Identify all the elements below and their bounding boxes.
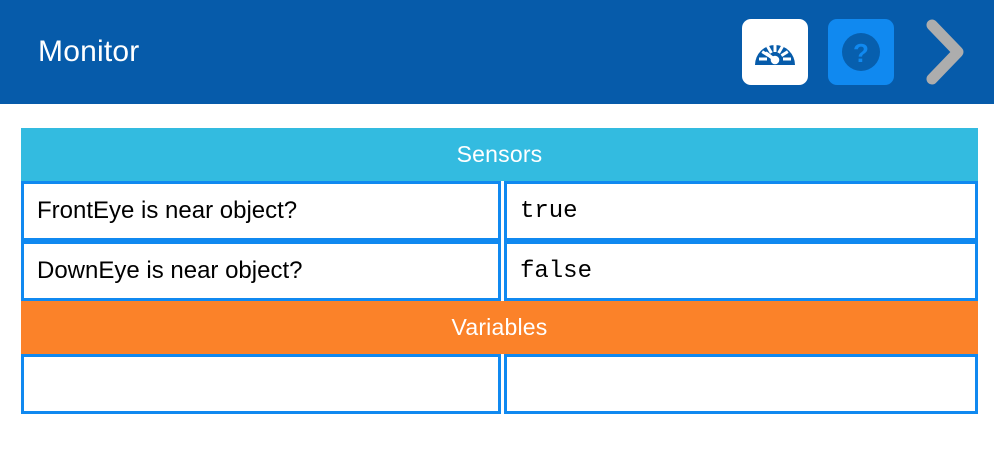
expand-button[interactable] xyxy=(914,12,976,92)
sensor-value-fronteye: true xyxy=(504,181,978,241)
monitor-panel: Sensors FrontEye is near object? true Do… xyxy=(0,104,994,414)
variable-value-empty xyxy=(504,354,978,414)
section-header-cell-sensors: Sensors xyxy=(21,128,978,181)
section-header-row-variables: Variables xyxy=(21,301,978,354)
chevron-right-icon xyxy=(923,17,967,87)
table-row xyxy=(21,354,978,414)
variable-name-empty xyxy=(21,354,501,414)
question-mark-icon: ? xyxy=(838,29,884,75)
section-header-row-sensors: Sensors xyxy=(21,128,978,181)
help-button[interactable]: ? xyxy=(828,19,894,85)
section-header-cell-variables: Variables xyxy=(21,301,978,354)
header-actions: ? xyxy=(742,12,976,92)
app-header-bar: Monitor ? xyxy=(0,0,994,104)
sensor-name-downeye: DownEye is near object? xyxy=(21,241,501,301)
table-row: FrontEye is near object? true xyxy=(21,181,978,241)
sensors-section-title: Sensors xyxy=(21,128,978,181)
variables-section-title: Variables xyxy=(21,301,978,354)
sensor-name-fronteye: FrontEye is near object? xyxy=(21,181,501,241)
gauge-icon xyxy=(754,37,796,67)
page-title: Monitor xyxy=(38,37,139,67)
sensor-value-downeye: false xyxy=(504,241,978,301)
table-row: DownEye is near object? false xyxy=(21,241,978,301)
monitor-table: Sensors FrontEye is near object? true Do… xyxy=(21,128,978,414)
svg-text:?: ? xyxy=(853,38,869,68)
gauge-button[interactable] xyxy=(742,19,808,85)
